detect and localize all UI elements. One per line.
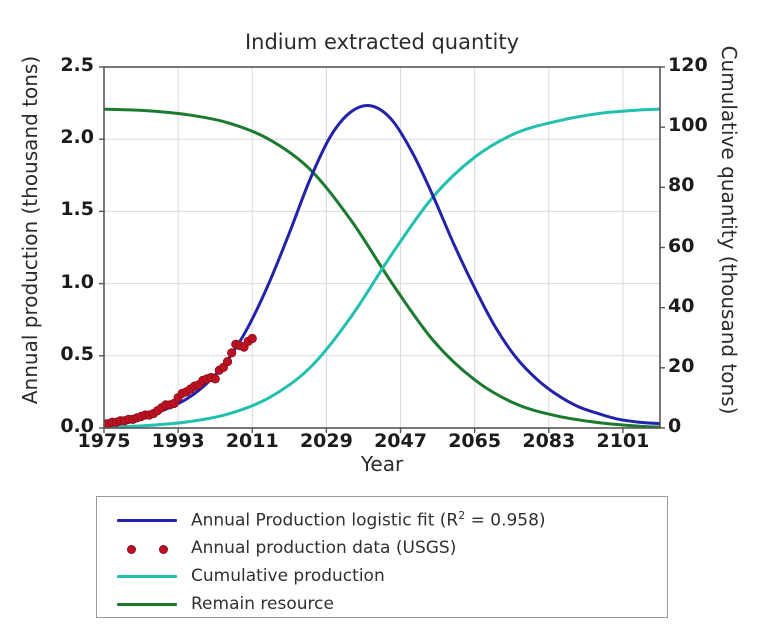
data-point: [256, 0, 264, 4]
data-point: [211, 375, 219, 383]
legend-item-label: Remain resource: [191, 594, 334, 614]
legend-marker-line-icon: [113, 564, 181, 588]
chart-legend: Annual Production logistic fit (R2 = 0.9…: [96, 496, 668, 618]
data-point: [248, 334, 256, 342]
legend-item[interactable]: Cumulative production: [97, 562, 667, 590]
data-point: [252, 0, 260, 4]
legend-line-icon: [117, 519, 177, 522]
legend-label-superscript: 2: [458, 509, 465, 522]
legend-item[interactable]: Annual Production logistic fit (R2 = 0.9…: [97, 506, 667, 534]
legend-item[interactable]: Remain resource: [97, 590, 667, 618]
legend-marker-line-icon: [113, 508, 181, 532]
legend-line-icon: [117, 603, 177, 606]
legend-item-label: Annual production data (USGS): [191, 538, 456, 558]
legend-dot-icon: [127, 545, 136, 554]
legend-item-label: Annual Production logistic fit (R2 = 0.9…: [191, 509, 546, 531]
plot-background: [104, 67, 660, 428]
legend-marker-dots-icon: [113, 536, 181, 560]
data-point: [265, 0, 273, 4]
legend-marker-line-icon: [113, 592, 181, 616]
legend-line-icon: [117, 575, 177, 578]
legend-item-label: Cumulative production: [191, 566, 385, 586]
chart-figure: Indium extracted quantity Annual product…: [0, 0, 764, 642]
legend-item[interactable]: Annual production data (USGS): [97, 534, 667, 562]
legend-dot-icon: [159, 545, 168, 554]
data-point: [223, 357, 231, 365]
data-point: [227, 349, 235, 357]
data-point: [260, 0, 268, 4]
